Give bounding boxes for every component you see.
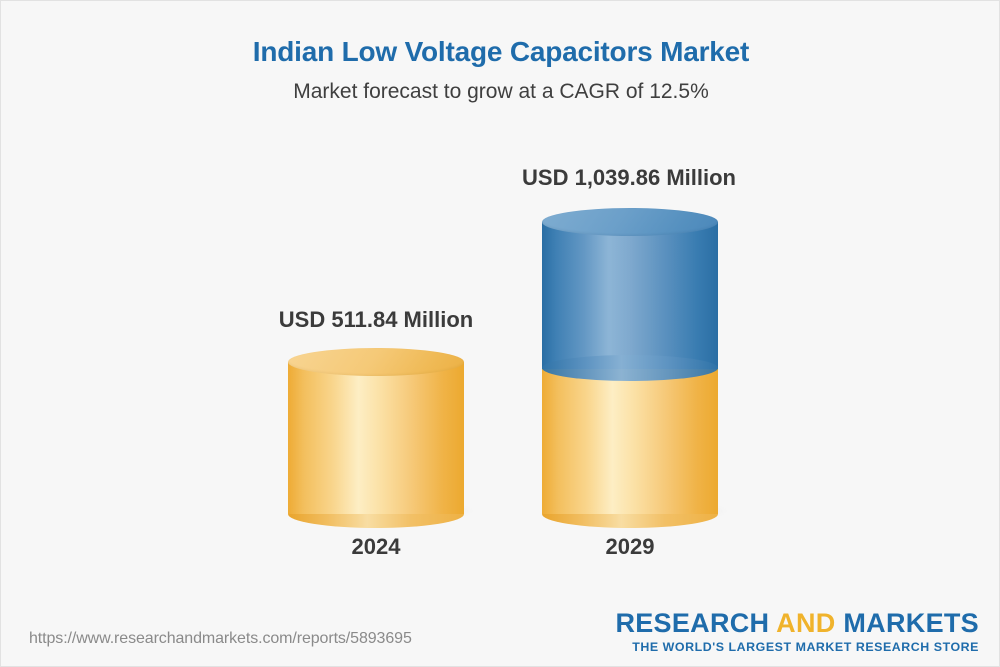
logo-tagline: THE WORLD'S LARGEST MARKET RESEARCH STOR…	[615, 640, 979, 654]
value-label-2024: USD 511.84 Million	[196, 307, 556, 333]
logo-research-text: RESEARCH	[615, 608, 769, 638]
bar-2029-segment-divider	[542, 355, 718, 381]
bar-2029-lower-segment	[542, 362, 718, 514]
chart-footer: https://www.researchandmarkets.com/repor…	[1, 604, 1000, 666]
logo-markets-text: MARKETS	[843, 608, 979, 638]
bar-2024-top-ellipse	[288, 348, 464, 376]
chart-infographic: Indian Low Voltage Capacitors Market Mar…	[0, 0, 1000, 667]
logo-and-text: AND	[776, 608, 835, 638]
chart-plot-area: USD 511.84 Million 2024 USD 1,039.86 Mil…	[1, 1, 1000, 601]
source-url[interactable]: https://www.researchandmarkets.com/repor…	[29, 630, 412, 648]
category-label-2029: 2029	[510, 534, 750, 560]
bar-2024-body	[288, 362, 464, 514]
value-label-2029: USD 1,039.86 Million	[449, 165, 809, 191]
bar-2029-upper-segment	[542, 222, 718, 369]
logo-wordmark: RESEARCH AND MARKETS	[615, 609, 979, 637]
category-label-2024: 2024	[256, 534, 496, 560]
bar-2029-top-ellipse	[542, 208, 718, 236]
brand-logo[interactable]: RESEARCH AND MARKETS THE WORLD'S LARGEST…	[615, 609, 979, 654]
